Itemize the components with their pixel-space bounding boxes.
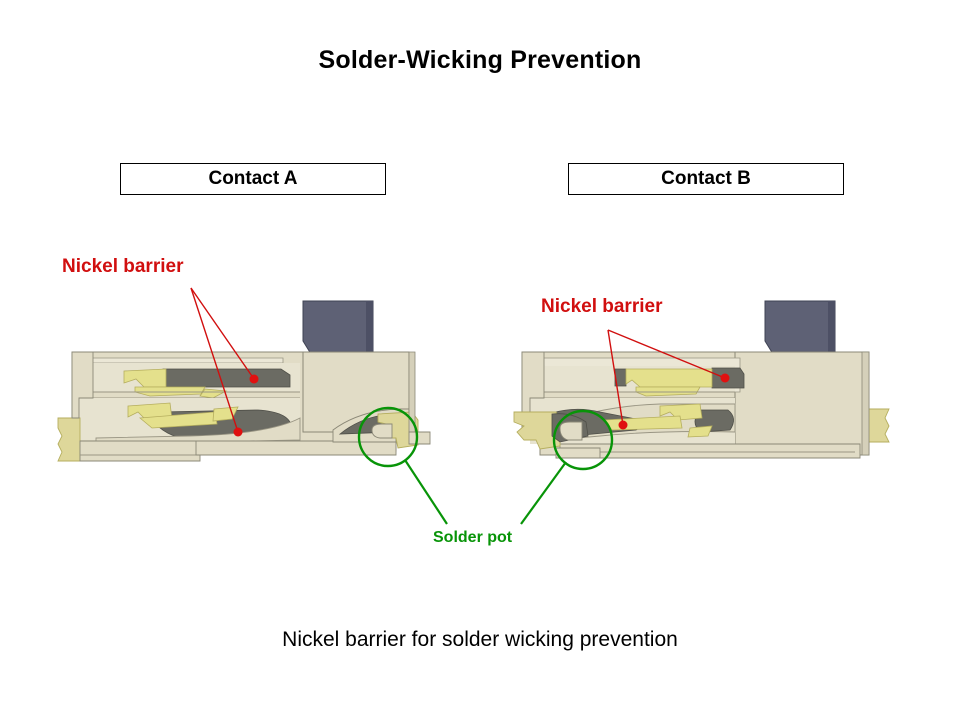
right-foot-a — [409, 432, 430, 444]
leader-dot-a-2 — [234, 428, 243, 437]
leader-dot-a-1 — [250, 375, 259, 384]
solder-pot-leader-a — [405, 460, 447, 524]
leader-dot-b-1 — [721, 374, 730, 383]
gold-contact-upper-b — [626, 369, 712, 387]
solder-pot-label: Solder pot — [433, 529, 512, 547]
housing-block-b-shadow — [828, 301, 835, 354]
nickel-barrier-upper-a — [163, 369, 290, 387]
housing-block-b — [765, 301, 835, 354]
nickel-barrier-label-b: Nickel barrier — [541, 296, 662, 318]
solder-pot-foot-b — [556, 448, 600, 458]
leader-dot-b-2 — [619, 421, 628, 430]
base-plate-b — [560, 444, 860, 458]
base-plate-a — [80, 441, 200, 461]
base-extension-a — [196, 441, 396, 455]
slide-canvas: Solder-Wicking Prevention Contact A Cont… — [0, 0, 960, 720]
connector-diagrams — [0, 0, 960, 720]
figure-caption: Nickel barrier for solder wicking preven… — [0, 628, 960, 652]
solder-pot-cavity-a — [372, 424, 392, 438]
gold-contact-lower-b-tip — [688, 426, 712, 437]
gold-contact-upper-a-tail — [135, 387, 205, 396]
solder-pot-leader-b — [521, 462, 566, 524]
housing-block-a-shadow — [366, 301, 373, 354]
terminal-lug-a — [58, 418, 80, 461]
solder-pot-cavity-b — [560, 422, 582, 440]
connector-cross-section-b — [514, 301, 889, 458]
housing-block-a — [303, 301, 373, 354]
right-trim-b — [862, 352, 869, 455]
terminal-lug-b — [869, 409, 889, 442]
connector-cross-section-a — [58, 301, 430, 461]
nickel-barrier-label-a: Nickel barrier — [62, 256, 183, 278]
body-b-riser — [735, 352, 869, 455]
